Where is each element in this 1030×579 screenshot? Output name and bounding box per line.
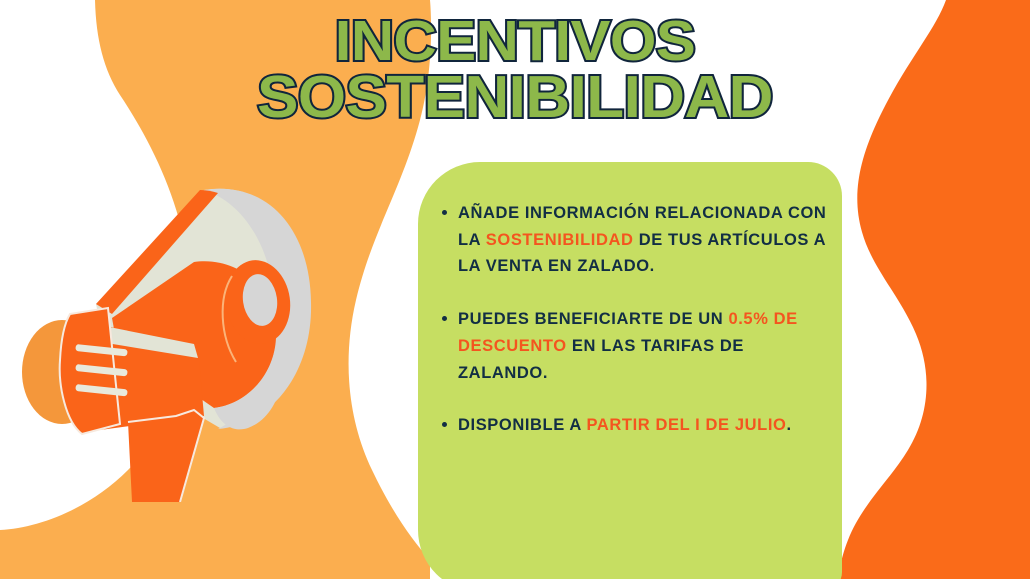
bullet-text: DISPONIBLE A PARTIR DEL I DE JULIO. (458, 412, 792, 439)
bullet-list: AÑADE INFORMACIÓN RELACIONADA CON LA SOS… (442, 200, 834, 465)
slide-canvas: INCENTIVOS SOSTENIBILIDAD (0, 0, 1030, 579)
bullet-text: AÑADE INFORMACIÓN RELACIONADA CON LA SOS… (458, 200, 834, 280)
bullet-text: PUEDES BENEFICIARTE DE UN 0.5% DE DESCUE… (458, 306, 834, 386)
accent-text: SOSTENIBILIDAD (486, 231, 634, 249)
list-item: DISPONIBLE A PARTIR DEL I DE JULIO. (442, 412, 834, 439)
bullet-dot-icon (442, 316, 447, 321)
list-item: AÑADE INFORMACIÓN RELACIONADA CON LA SOS… (442, 200, 834, 280)
body-text: . (786, 416, 791, 434)
body-text: DISPONIBLE A (458, 416, 587, 434)
megaphone-illustration (8, 172, 348, 502)
list-item: PUEDES BENEFICIARTE DE UN 0.5% DE DESCUE… (442, 306, 834, 386)
bullet-dot-icon (442, 422, 447, 427)
bullet-dot-icon (442, 210, 447, 215)
accent-text: PARTIR DEL I DE JULIO (587, 416, 787, 434)
body-text: PUEDES BENEFICIARTE DE UN (458, 310, 728, 328)
